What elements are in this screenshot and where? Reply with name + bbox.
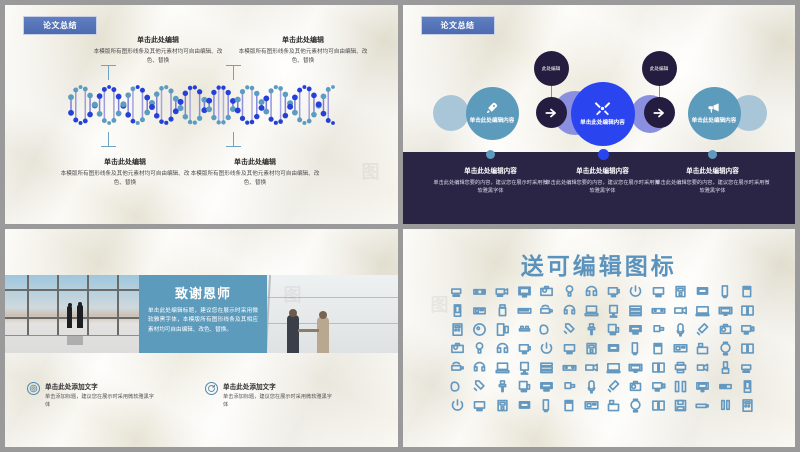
scanner-icon[interactable]	[695, 322, 710, 337]
slide1-body-1: 本模版所有图形线条及其他元素材均可自由编辑、改色、替换	[93, 48, 223, 65]
slide2-col-body-2: 单击此处编辑您要的内容，建议您在展示时采用微软雅黑字体	[544, 179, 662, 196]
headset2-icon[interactable]	[562, 379, 577, 394]
person-silhouette-1	[67, 306, 72, 328]
slide1-text-block-1: 单击此处编辑 本模版所有图形线条及其他元素材均可自由编辑、改色、替换	[93, 35, 223, 65]
watermark: 图	[362, 158, 380, 184]
headphone2-icon[interactable]	[673, 341, 688, 356]
target-icon	[27, 382, 40, 395]
slide2-col-heading-3: 单击此处编辑内容	[654, 165, 772, 175]
slide2-col-body-1: 单击此处编辑您要的内容，建议您在展示时采用微软雅黑字体	[432, 179, 550, 196]
keyboard2-icon[interactable]	[562, 341, 577, 356]
icons-title: 送可编辑图标	[403, 247, 796, 281]
monitor-img-icon[interactable]	[450, 360, 465, 375]
tv-old-icon[interactable]	[495, 360, 510, 375]
step-circle-2[interactable]: 单击此处编辑内容	[571, 82, 635, 146]
step-label-1: 单击此处编辑内容	[470, 118, 515, 126]
window-mullion	[27, 275, 29, 335]
slide1-body-4: 本模版所有图形线条及其他元素材均可自由编辑、改色、替换	[190, 170, 320, 187]
display2-icon[interactable]	[539, 322, 554, 337]
smartphone-icon[interactable]	[539, 341, 554, 356]
hdd-icon[interactable]	[495, 379, 510, 394]
tv-icon[interactable]	[718, 398, 733, 413]
person-silhouette-2	[77, 305, 83, 328]
tablet-hand-icon[interactable]	[740, 360, 755, 375]
usb3-icon[interactable]	[517, 379, 532, 394]
mouse-hand-icon[interactable]	[472, 303, 487, 318]
monitor2-icon[interactable]	[606, 379, 621, 394]
tv-screen-icon[interactable]	[606, 360, 621, 375]
laptop-icon[interactable]	[584, 303, 599, 318]
step-tag-label-1: 此处编辑	[542, 66, 560, 72]
slide2-column-1: 单击此处编辑内容 单击此处编辑您要的内容，建议您在展示时采用微软雅黑字体	[432, 165, 550, 196]
slide-editable-icons: 送可编辑图标 图	[403, 229, 796, 448]
camera-icon[interactable]	[695, 284, 710, 299]
batteries-icon[interactable]	[495, 322, 510, 337]
person-silhouette-2-head	[78, 302, 82, 306]
window-mullion	[117, 275, 119, 335]
slide2-col-heading-1: 单击此处编辑内容	[432, 165, 550, 175]
photo-camera-icon[interactable]	[450, 322, 465, 337]
usb5-icon[interactable]	[673, 398, 688, 413]
slide1-text-block-3: 单击此处编辑 本模版所有图形线条及其他元素材均可自由编辑、改色、替换	[60, 157, 190, 187]
camcorder2-icon[interactable]	[539, 398, 554, 413]
usb-stick-icon[interactable]	[628, 341, 643, 356]
battery-icon[interactable]	[651, 303, 666, 318]
pencil-icon[interactable]	[695, 360, 710, 375]
step-tag-1[interactable]: 此处编辑	[534, 51, 569, 86]
slide-grid: 论文总结 单击此处编辑 本模版所有图形线条及其他元素材均可自由编辑、改色、替换 …	[0, 0, 800, 452]
slide2-column-2: 单击此处编辑内容 单击此处编辑您要的内容，建议您在展示时采用微软雅黑字体	[544, 165, 662, 196]
watch-icon[interactable]	[495, 284, 510, 299]
phone-old-icon[interactable]	[562, 303, 577, 318]
usb2-icon[interactable]	[695, 341, 710, 356]
handshake-arm	[298, 329, 319, 332]
arrow-right-circle-1[interactable]	[536, 97, 567, 128]
music-note-icon[interactable]	[584, 341, 599, 356]
joystick-icon[interactable]	[539, 379, 554, 394]
slide2-col-body-3: 单击此处编辑您要的内容，建议您在展示时采用微软雅黑字体	[654, 179, 772, 196]
desk-lamp-icon[interactable]	[673, 303, 688, 318]
silhouette-reflection	[67, 336, 83, 345]
projector-icon[interactable]	[584, 284, 599, 299]
guitar-icon[interactable]	[539, 284, 554, 299]
webcam2-icon[interactable]	[495, 398, 510, 413]
printer-scan-icon[interactable]	[517, 322, 532, 337]
photo-office-silhouette	[5, 275, 139, 353]
slide1-text-block-4: 单击此处编辑 本模版所有图形线条及其他元素材均可自由编辑、改色、替换	[190, 157, 320, 187]
slide3-bullet-heading-2: 单击此处添加文字	[223, 381, 335, 391]
screen-icon[interactable]	[628, 303, 643, 318]
slide1-title-badge: 论文总结	[23, 16, 97, 35]
step-circle-3[interactable]: 单击此处编辑内容	[688, 87, 741, 140]
mouse-icon[interactable]	[673, 284, 688, 299]
person-suit-light	[317, 317, 329, 353]
leader-cap-top-2	[226, 65, 241, 66]
arrow-right-icon	[544, 106, 558, 120]
camcorder-icon[interactable]	[450, 303, 465, 318]
mobile-icon[interactable]	[628, 360, 643, 375]
usb-icon[interactable]	[517, 284, 532, 299]
acknowledgement-body: 单击此处编辑标题，建议您在展示时采用微软雅黑字体，本模版所有图形线条及其相应素材…	[148, 307, 258, 336]
rocket-icon	[485, 101, 499, 115]
calculator-icon[interactable]	[651, 322, 666, 337]
camera3-icon[interactable]	[562, 398, 577, 413]
headset-icon[interactable]	[718, 303, 733, 318]
dna-helix-graphic	[67, 79, 337, 131]
cable-icon[interactable]	[539, 360, 554, 375]
film-camera-icon[interactable]	[740, 322, 755, 337]
printer3-icon[interactable]	[651, 398, 666, 413]
slide3-bullet-heading-1: 单击此处添加文字	[45, 381, 157, 391]
icon-grid	[447, 284, 759, 413]
slide1-heading-1: 单击此处编辑	[93, 35, 223, 45]
slide3-bullet-1: 单击此处添加文字 单击添加标题，建议您在展示时采用微软雅黑字体	[27, 381, 157, 409]
leader-line-bottom-2	[233, 132, 234, 147]
pen-icon[interactable]	[517, 303, 532, 318]
dna-svg	[67, 79, 337, 131]
speaker-icon[interactable]	[472, 398, 487, 413]
megaphone-icon	[707, 101, 721, 115]
leader-cap-top-1	[101, 65, 116, 66]
notebook-icon[interactable]	[562, 322, 577, 337]
person-silhouette-1-head	[68, 303, 72, 307]
mp3-icon[interactable]	[628, 379, 643, 394]
slide3-bullet-body-2: 单击添加标题，建议您在展示时采用微软雅黑字体	[223, 393, 335, 409]
person-suit-light-head	[319, 311, 327, 319]
slide1-heading-3: 单击此处编辑	[60, 157, 190, 167]
microphone-icon[interactable]	[718, 341, 733, 356]
easel-icon[interactable]	[718, 322, 733, 337]
slide-thesis-summary-process: 论文总结 此处编辑 此处编辑	[403, 5, 796, 224]
console-icon[interactable]	[628, 284, 643, 299]
slide1-text-block-2: 单击此处编辑 本模版所有图形线条及其他元素材均可自由编辑、改色、替换	[238, 35, 368, 65]
step-tag-2[interactable]: 此处编辑	[642, 51, 677, 86]
window-mullion	[87, 275, 89, 335]
tablet-icon[interactable]	[740, 379, 755, 394]
floppy-icon[interactable]	[495, 303, 510, 318]
step-label-3: 单击此处编辑内容	[692, 118, 737, 126]
slide2-title-badge: 论文总结	[421, 16, 495, 35]
speakers-icon[interactable]	[695, 303, 710, 318]
slide3-bullet-text-2: 单击此处添加文字 单击添加标题，建议您在展示时采用微软雅黑字体	[223, 381, 335, 409]
book-icon[interactable]	[628, 322, 643, 337]
step-label-2: 单击此处编辑内容	[580, 120, 625, 128]
slide1-body-2: 本模版所有图形线条及其他元素材均可自由编辑、改色、替换	[238, 48, 368, 65]
panel-connector-dot-3	[708, 150, 717, 159]
tools-icon	[594, 100, 611, 117]
bulb-icon[interactable]	[606, 322, 621, 337]
gamepad-icon[interactable]	[606, 284, 621, 299]
leader-cap-bottom-2	[226, 146, 241, 147]
person-suit-dark-head	[289, 309, 297, 317]
window-mullion	[57, 275, 59, 335]
slide3-bullet-2: 单击此处添加文字 单击添加标题，建议您在展示时采用微软雅黑字体	[205, 381, 335, 409]
step-tag-label-2: 此处编辑	[650, 66, 668, 72]
leader-cap-bottom-1	[101, 146, 116, 147]
panel-connector-dot-1	[486, 150, 495, 159]
tripod-icon[interactable]	[695, 379, 710, 394]
person-suit-dark	[287, 315, 299, 353]
refresh-icon	[205, 382, 218, 395]
books-icon[interactable]	[651, 284, 666, 299]
power-icon[interactable]	[472, 284, 487, 299]
server-icon[interactable]	[651, 341, 666, 356]
keyboard3-icon[interactable]	[584, 379, 599, 394]
panel-connector-dot-2	[598, 149, 609, 160]
display-icon[interactable]	[606, 303, 621, 318]
slide-acknowledgements: 致谢恩师 单击此处编辑标题，建议您在展示时采用微软雅黑字体，本模版所有图形线条及…	[5, 229, 398, 448]
movie-camera-icon[interactable]	[472, 360, 487, 375]
stereo-icon[interactable]	[450, 398, 465, 413]
slide3-bullet-body-1: 单击添加标题，建议您在展示时采用微软雅黑字体	[45, 393, 157, 409]
cable2-icon[interactable]	[450, 379, 465, 394]
webcam-icon[interactable]	[606, 341, 621, 356]
slide1-heading-2: 单击此处编辑	[238, 35, 368, 45]
usb4-icon[interactable]	[673, 379, 688, 394]
slide1-heading-4: 单击此处编辑	[190, 157, 320, 167]
slide3-bullet-text-1: 单击此处添加文字 单击添加标题，建议您在展示时采用微软雅黑字体	[45, 381, 157, 409]
ac-icon[interactable]	[606, 398, 621, 413]
halo-circle-1	[433, 95, 469, 131]
lens-icon[interactable]	[562, 284, 577, 299]
keyboard-icon[interactable]	[718, 284, 733, 299]
radio-icon[interactable]	[472, 341, 487, 356]
mp3player-icon[interactable]	[517, 398, 532, 413]
slide2-col-heading-2: 单击此处编辑内容	[544, 165, 662, 175]
printer2-icon[interactable]	[651, 379, 666, 394]
headphone3-icon[interactable]	[718, 379, 733, 394]
laptop2-icon[interactable]	[673, 322, 688, 337]
hand-phone-icon[interactable]	[472, 322, 487, 337]
slide2-column-3: 单击此处编辑内容 单击此处编辑您要的内容，建议您在展示时采用微软雅黑字体	[654, 165, 772, 196]
leader-line-top-1	[108, 65, 109, 80]
leader-line-bottom-1	[108, 132, 109, 147]
remote-icon[interactable]	[472, 379, 487, 394]
speaker2-icon[interactable]	[695, 398, 710, 413]
arrow-right-icon	[652, 106, 666, 120]
printer-icon[interactable]	[584, 322, 599, 337]
laptop3-icon[interactable]	[651, 360, 666, 375]
slide-thesis-summary-dna: 论文总结 单击此处编辑 本模版所有图形线条及其他元素材均可自由编辑、改色、替换 …	[5, 5, 398, 224]
step-circle-1[interactable]: 单击此处编辑内容	[466, 87, 519, 140]
plug-icon[interactable]	[450, 284, 465, 299]
book-open-icon[interactable]	[740, 303, 755, 318]
monitor3-icon[interactable]	[740, 398, 755, 413]
plug2-icon[interactable]	[628, 398, 643, 413]
projector2-icon[interactable]	[584, 398, 599, 413]
ipod-icon[interactable]	[517, 360, 532, 375]
cellphone-icon[interactable]	[584, 360, 599, 375]
leader-line-top-2	[233, 65, 234, 80]
acknowledgement-title: 致谢恩师	[148, 283, 258, 302]
mic-icon[interactable]	[562, 360, 577, 375]
cd-icon[interactable]	[495, 341, 510, 356]
headphones-icon[interactable]	[450, 341, 465, 356]
acknowledgement-card: 致谢恩师 单击此处编辑标题，建议您在展示时采用微软雅黑字体，本模版所有图形线条及…	[139, 275, 267, 353]
slide1-body-3: 本模版所有图形线条及其他元素材均可自由编辑、改色、替换	[60, 170, 190, 187]
bag-icon[interactable]	[673, 360, 688, 375]
clamp-icon[interactable]	[517, 341, 532, 356]
camera2-icon[interactable]	[718, 360, 733, 375]
pad-icon[interactable]	[740, 341, 755, 356]
monitor-icon[interactable]	[539, 303, 554, 318]
arrow-right-circle-2[interactable]	[644, 97, 675, 128]
laptop-flat-icon[interactable]	[740, 284, 755, 299]
